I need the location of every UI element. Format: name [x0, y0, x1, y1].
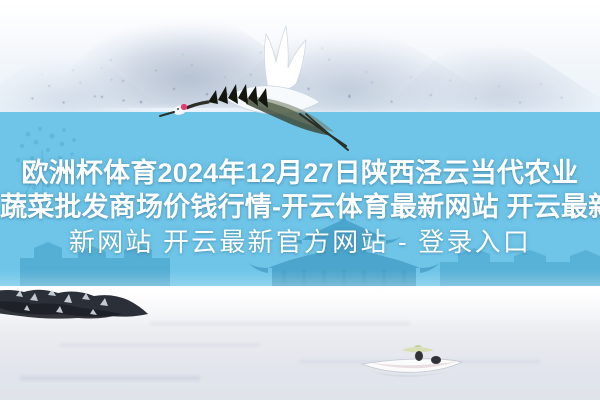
sky-background — [0, 0, 600, 112]
lake-mist — [0, 286, 600, 326]
water-shimmer — [0, 270, 600, 286]
water-streak — [300, 360, 540, 363]
tree-silhouette — [8, 120, 104, 220]
banner-image: 欧洲杯体育2024年12月27日陕西泾云当代农业 蔬菜批发商场价钱行情-开云体育… — [0, 0, 600, 400]
water-streak — [20, 376, 200, 380]
water-streak — [60, 344, 260, 346]
water-streak — [150, 322, 410, 325]
